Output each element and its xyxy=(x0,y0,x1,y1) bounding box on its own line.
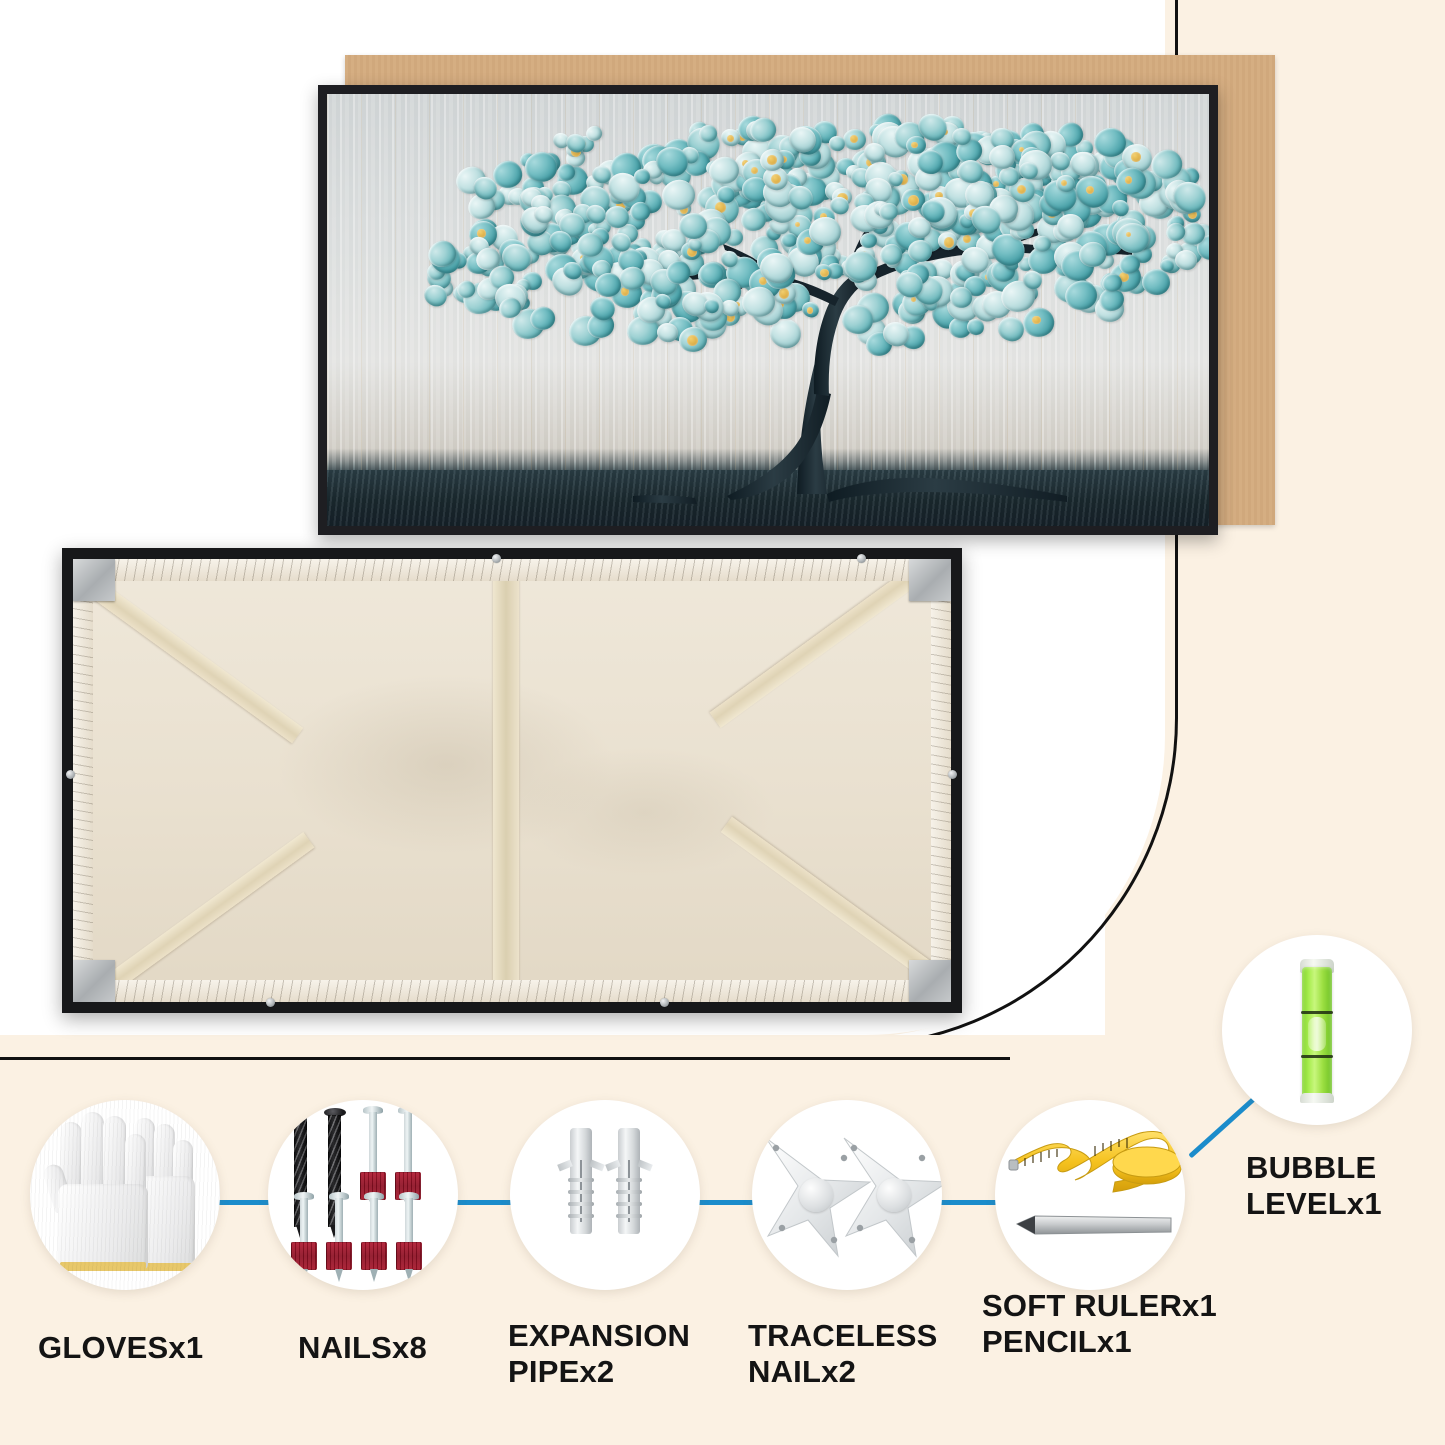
accessory-circle-expansion-pipe[interactable] xyxy=(510,1100,700,1290)
divider-band xyxy=(0,1035,1010,1057)
painting-canvas xyxy=(327,94,1209,526)
accessory-circle-traceless-nail[interactable] xyxy=(752,1100,942,1290)
painting-gold-accent xyxy=(767,155,777,165)
bubble-level-icon xyxy=(1222,935,1412,1125)
nails-icon xyxy=(268,1100,458,1290)
expansion-pipe-icon xyxy=(510,1100,700,1290)
frame-screw xyxy=(66,770,75,779)
painting-leaf xyxy=(908,240,933,263)
accessory-label-nails: NAILSx8 xyxy=(298,1330,518,1366)
frame-screw xyxy=(492,554,501,563)
gloves-icon xyxy=(30,1100,220,1290)
painting-foliage xyxy=(327,94,1209,526)
corner-bracket-bottom-left xyxy=(73,960,115,1002)
canvas-wrap-top xyxy=(73,559,951,581)
painting-gold-accent xyxy=(963,235,971,243)
frame-screw xyxy=(660,998,669,1007)
painting-gold-accent xyxy=(1017,185,1026,194)
stretcher-brace-top-right xyxy=(710,566,923,728)
framed-artwork-front xyxy=(318,85,1218,535)
accessory-label-soft-ruler-pencil: SOFT RULERx1 PENCILx1 xyxy=(982,1288,1262,1360)
horizontal-divider-line xyxy=(0,1057,1010,1060)
painting-leaf xyxy=(679,213,707,239)
stretcher-brace-bottom-right xyxy=(721,817,934,979)
canvas-wrap-right xyxy=(931,559,951,1002)
accessory-circle-gloves[interactable] xyxy=(30,1100,220,1290)
traceless-nail-icon xyxy=(752,1100,942,1290)
painting-leaf xyxy=(996,314,1026,342)
painting-gold-accent xyxy=(727,135,734,142)
painting-gold-accent xyxy=(687,335,698,346)
product-image-stage: GLOVESx1 xyxy=(0,0,1445,1445)
painting-gold-accent xyxy=(1125,176,1132,183)
painting-leaf xyxy=(809,217,841,246)
corner-bracket-bottom-right xyxy=(909,960,951,1002)
accessory-label-traceless-nail: TRACELESS NAILx2 xyxy=(748,1318,988,1390)
painting-leaf xyxy=(634,169,651,184)
canvas-wrap-left xyxy=(73,559,93,1002)
painting-gold-accent xyxy=(795,222,800,227)
accessory-label-gloves: GLOVESx1 xyxy=(38,1330,258,1366)
painting-gold-accent xyxy=(1131,152,1140,161)
accessory-label-expansion-pipe: EXPANSION PIPEx2 xyxy=(508,1318,738,1390)
painting-leaf xyxy=(1141,268,1170,295)
corner-bracket-top-right xyxy=(909,559,951,601)
painting-gold-accent xyxy=(820,269,828,277)
canvas-wrap-bottom xyxy=(73,980,951,1002)
accessory-circle-bubble-level[interactable] xyxy=(1222,935,1412,1125)
painting-leaf xyxy=(828,136,845,152)
accessory-label-bubble-level: BUBBLE LEVELx1 xyxy=(1246,1150,1445,1222)
stretcher-brace-top-left xyxy=(90,581,303,743)
corner-bracket-top-left xyxy=(73,559,115,601)
soft-ruler-pencil-icon xyxy=(995,1100,1185,1290)
canvas-back-frame xyxy=(62,548,962,1013)
painting-gold-accent xyxy=(1061,180,1067,186)
frame-screw xyxy=(857,554,866,563)
painting-gold-accent xyxy=(1032,316,1040,324)
frame-screw xyxy=(948,770,957,779)
stretcher-bar-vertical xyxy=(493,559,519,1002)
accessory-circle-nails[interactable] xyxy=(268,1100,458,1290)
painting-leaf xyxy=(605,206,629,228)
canvas-back-surface xyxy=(73,559,951,1002)
painting-gold-accent xyxy=(807,307,814,314)
painting-gold-accent xyxy=(908,195,919,206)
stretcher-brace-bottom-left xyxy=(101,832,314,994)
accessory-circle-soft-ruler-pencil[interactable] xyxy=(995,1100,1185,1290)
painting-gold-accent xyxy=(911,142,918,149)
frame-screw xyxy=(266,998,275,1007)
